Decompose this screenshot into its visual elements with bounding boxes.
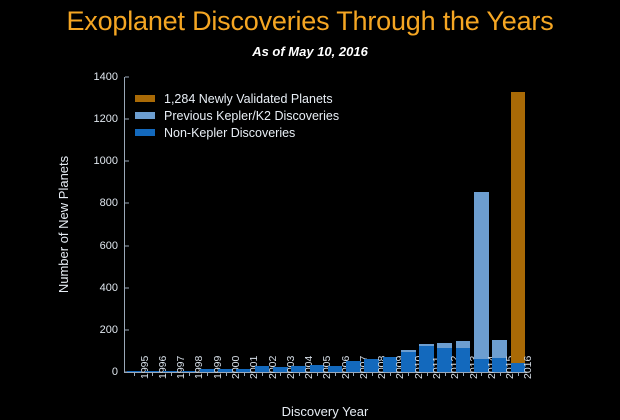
y-axis-tick-label: 1000: [94, 155, 125, 167]
y-axis-label-text: Number of New Planets: [57, 156, 72, 293]
x-axis-tick-label: 2016: [522, 356, 534, 379]
legend-item[interactable]: Previous Kepler/K2 Discoveries: [135, 107, 339, 124]
page-subtitle: As of May 10, 2016: [0, 44, 620, 59]
bar-segment[interactable]: [401, 350, 416, 352]
x-axis-tick-mark: [280, 372, 281, 376]
bar-segment[interactable]: [419, 344, 434, 346]
x-axis-tick-mark: [171, 372, 172, 376]
x-axis-tick-mark: [189, 372, 190, 376]
x-axis-tick-mark: [390, 372, 391, 376]
y-axis-tick-label: 400: [100, 282, 125, 294]
x-axis-tick-mark: [152, 372, 153, 376]
y-axis-tick-label: 0: [112, 366, 125, 378]
page-title: Exoplanet Discoveries Through the Years: [0, 6, 620, 37]
x-axis-tick-mark: [134, 372, 135, 376]
bar-column[interactable]: [511, 77, 526, 372]
chart-canvas: Exoplanet Discoveries Through the Years …: [0, 0, 620, 420]
bar-column[interactable]: [474, 77, 489, 372]
legend-item-label: Non-Kepler Discoveries: [164, 126, 295, 140]
x-axis-tick-mark: [262, 372, 263, 376]
legend-item[interactable]: 1,284 Newly Validated Planets: [135, 90, 339, 107]
bar-segment[interactable]: [511, 92, 526, 363]
x-axis-tick-mark: [445, 372, 446, 376]
x-axis-tick-mark: [481, 372, 482, 376]
x-axis-tick-mark: [244, 372, 245, 376]
bar-segment[interactable]: [456, 341, 471, 349]
bar-column[interactable]: [401, 77, 416, 372]
bar-column[interactable]: [383, 77, 398, 372]
bar-column[interactable]: [456, 77, 471, 372]
y-axis-tick-label: 600: [100, 240, 125, 252]
x-axis-tick-mark: [518, 372, 519, 376]
bar-column[interactable]: [364, 77, 379, 372]
x-axis-tick-mark: [372, 372, 373, 376]
y-axis-tick-label: 200: [100, 324, 125, 336]
x-axis-tick-mark: [408, 372, 409, 376]
x-axis-tick-mark: [463, 372, 464, 376]
bar-column[interactable]: [419, 77, 434, 372]
y-axis-tick-label: 1200: [94, 113, 125, 125]
bar-segment[interactable]: [474, 192, 489, 359]
legend-item-label: Previous Kepler/K2 Discoveries: [164, 109, 339, 123]
legend-item-label: 1,284 Newly Validated Planets: [164, 92, 333, 106]
bar-column[interactable]: [437, 77, 452, 372]
x-axis-tick-mark: [207, 372, 208, 376]
x-axis-tick-mark: [353, 372, 354, 376]
bar-column[interactable]: [346, 77, 361, 372]
legend-swatch-icon: [135, 95, 155, 102]
x-axis-tick-mark: [335, 372, 336, 376]
chart-legend: 1,284 Newly Validated PlanetsPrevious Ke…: [135, 90, 339, 141]
x-axis-tick-mark: [427, 372, 428, 376]
y-axis-label: Number of New Planets: [56, 77, 72, 372]
legend-swatch-icon: [135, 112, 155, 119]
legend-item[interactable]: Non-Kepler Discoveries: [135, 124, 339, 141]
legend-swatch-icon: [135, 129, 155, 136]
y-axis-tick-label: 800: [100, 197, 125, 209]
bar-segment[interactable]: [437, 343, 452, 348]
x-axis-tick-mark: [317, 372, 318, 376]
x-axis-tick-mark: [226, 372, 227, 376]
x-axis-tick-mark: [299, 372, 300, 376]
y-axis-tick-label: 1400: [94, 71, 125, 83]
x-axis-label: Discovery Year: [124, 404, 526, 419]
bar-column[interactable]: [492, 77, 507, 372]
x-axis-tick-mark: [500, 372, 501, 376]
